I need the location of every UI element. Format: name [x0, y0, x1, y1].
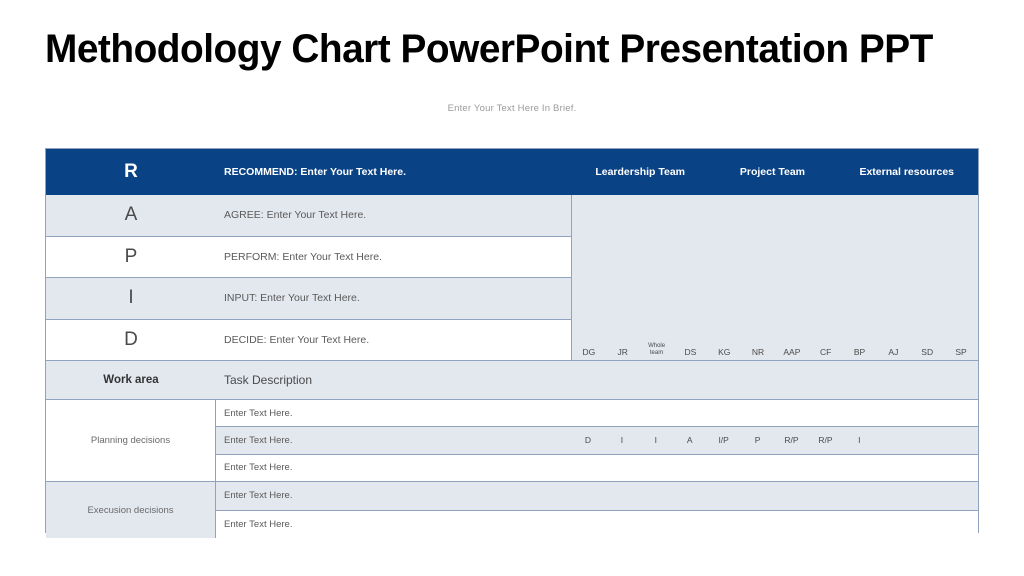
task-value-dg: D	[571, 435, 605, 445]
person-column-sp: SP	[944, 348, 978, 360]
person-column-dg: DG	[572, 348, 606, 360]
person-column-kg: KG	[707, 348, 741, 360]
task-text[interactable]: Enter Text Here.	[216, 490, 571, 501]
group-label-planning-decisions: Planning decisions	[46, 400, 216, 481]
person-column-ds: DS	[673, 348, 707, 360]
header-external-resources: External resources	[836, 166, 978, 178]
person-column-bp: BP	[843, 348, 877, 360]
table-row[interactable]: Enter Text Here. D I I A I/P P R/P R/P I	[216, 427, 978, 454]
rapid-letter-p: P	[46, 237, 216, 278]
person-column-aap: AAP	[775, 348, 809, 360]
rapid-description-perform: PERFORM: Enter Your Text Here.	[216, 237, 571, 278]
group-execusion-decisions: Execusion decisions Enter Text Here.	[46, 482, 978, 538]
person-column-cf: CF	[809, 348, 843, 360]
header-leadership-team: Leardership Team	[571, 166, 709, 178]
rapid-description-decide: DECIDE: Enter Your Text Here.	[216, 320, 571, 361]
task-value-bp: I	[842, 435, 876, 445]
table-row[interactable]: Enter Text Here.	[216, 511, 978, 539]
rapid-letter-d: D	[46, 320, 216, 361]
person-column-jr: JR	[606, 348, 640, 360]
header-project-team: Project Team	[709, 166, 835, 178]
task-values: D I I A I/P P R/P R/P I	[571, 435, 978, 445]
group-label-execusion-decisions: Execusion decisions	[46, 482, 216, 538]
work-area-label: Work area	[46, 361, 216, 399]
task-text[interactable]: Enter Text Here.	[216, 519, 571, 530]
person-column-nr: NR	[741, 348, 775, 360]
task-text[interactable]: Enter Text Here.	[216, 462, 571, 473]
rapid-description-agree: AGREE: Enter Your Text Here.	[216, 195, 571, 236]
task-value-nr: P	[741, 435, 775, 445]
task-text[interactable]: Enter Text Here.	[216, 408, 571, 419]
task-description-label: Task Description	[216, 361, 978, 399]
rapid-letter-a: A	[46, 195, 216, 236]
person-column-sd: SD	[910, 348, 944, 360]
table-row: A AGREE: Enter Your Text Here.	[46, 195, 571, 237]
person-column-whole-team-line2: team	[650, 350, 663, 356]
task-value-whole-team: I	[639, 435, 673, 445]
task-value-jr: I	[605, 435, 639, 445]
task-value-aap: R/P	[775, 435, 809, 445]
rapid-description-input: INPUT: Enter Your Text Here.	[216, 278, 571, 319]
header-recommend-description: RECOMMEND: Enter Your Text Here.	[216, 149, 571, 195]
table-row[interactable]: Enter Text Here.	[216, 400, 978, 427]
person-columns-panel: DG JR Whole team DS KG NR AAP CF BP AJ S…	[571, 195, 978, 360]
table-row: P PERFORM: Enter Your Text Here.	[46, 237, 571, 279]
person-column-whole-team: Whole team	[640, 343, 674, 360]
page-title: Methodology Chart PowerPoint Presentatio…	[45, 28, 951, 70]
table-row[interactable]: Enter Text Here.	[216, 482, 978, 511]
rapid-letter-i: I	[46, 278, 216, 319]
task-text[interactable]: Enter Text Here.	[216, 435, 571, 446]
table-header-row: R RECOMMEND: Enter Your Text Here. Leard…	[46, 149, 978, 195]
group-rows-planning: Enter Text Here. Enter Text	[216, 400, 978, 481]
task-value-ds: A	[673, 435, 707, 445]
person-column-whole-team-line1: Whole	[648, 343, 665, 349]
table-row[interactable]: Enter Text Here.	[216, 455, 978, 481]
table-row: D DECIDE: Enter Your Text Here.	[46, 320, 571, 361]
table-row: I INPUT: Enter Your Text Here.	[46, 278, 571, 320]
header-letter-r: R	[46, 149, 216, 195]
task-value-cf: R/P	[808, 435, 842, 445]
group-planning-decisions: Planning decisions Enter Text Here.	[46, 400, 978, 482]
rapid-matrix-table: R RECOMMEND: Enter Your Text Here. Leard…	[45, 148, 979, 533]
person-column-aj: AJ	[876, 348, 910, 360]
task-value-kg: I/P	[707, 435, 741, 445]
rapid-legend-zone: A AGREE: Enter Your Text Here. P PERFORM…	[46, 195, 978, 360]
work-area-header-row: Work area Task Description	[46, 360, 978, 400]
header-team-columns: Leardership Team Project Team External r…	[571, 149, 978, 195]
person-column-headers: DG JR Whole team DS KG NR AAP CF BP AJ S…	[572, 336, 978, 360]
rapid-legend-rows: A AGREE: Enter Your Text Here. P PERFORM…	[46, 195, 571, 360]
group-rows-execusion: Enter Text Here. Enter Text	[216, 482, 978, 538]
slide-subtitle: Enter Your Text Here In Brief.	[0, 103, 1024, 114]
